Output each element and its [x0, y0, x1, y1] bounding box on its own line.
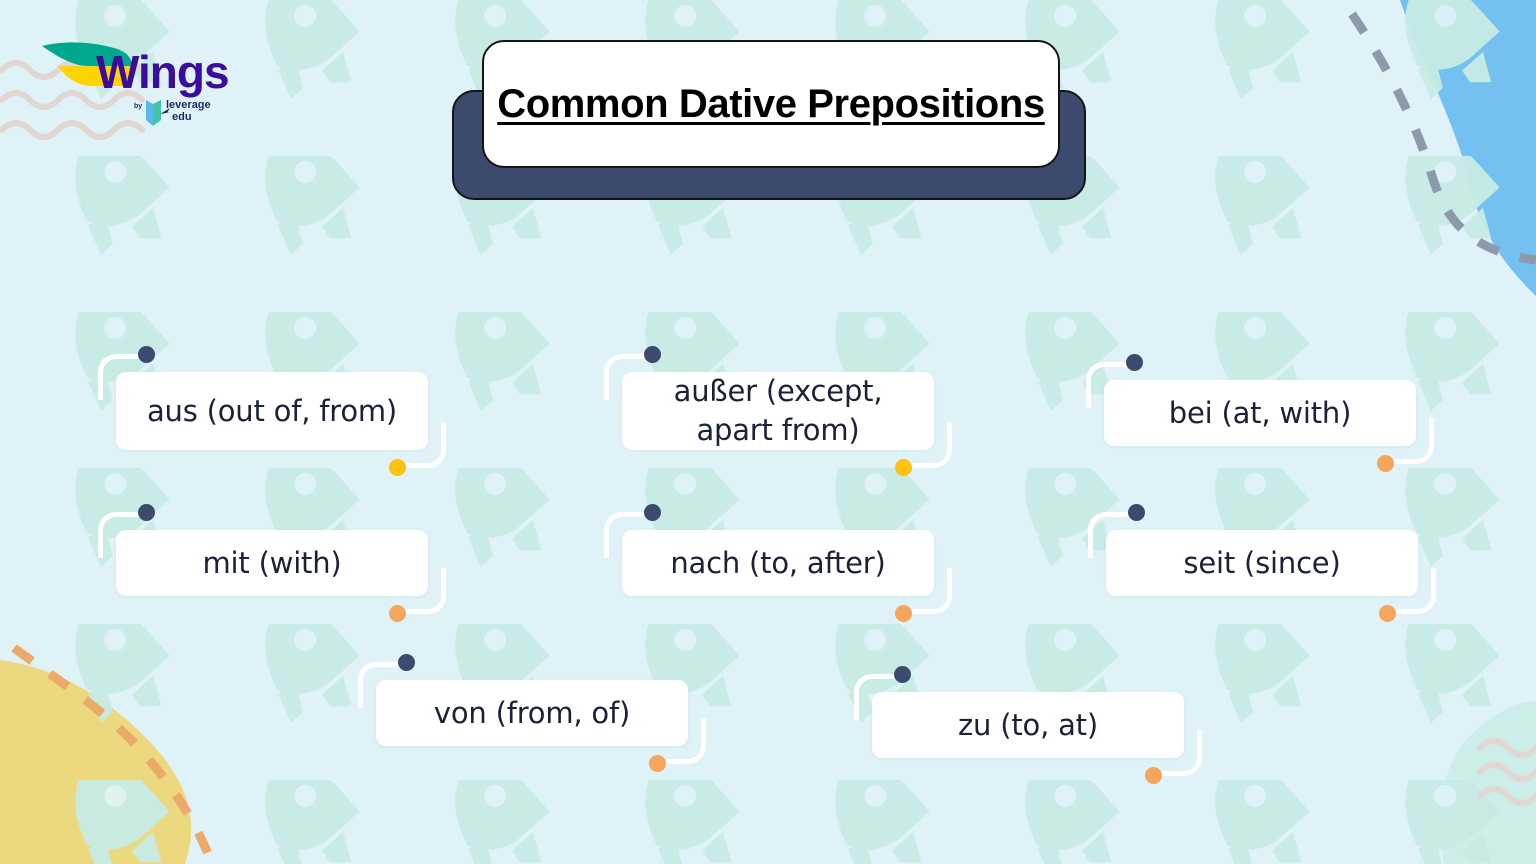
accent-dot-top	[644, 346, 661, 363]
preposition-card-body[interactable]: außer (except, apart from)	[622, 372, 934, 450]
logo-byline-line1: leverage	[166, 99, 211, 111]
blob-mint-bottom-right	[1441, 700, 1536, 864]
accent-dot-top	[894, 666, 911, 683]
preposition-card-aus[interactable]: aus (out of, from)	[116, 372, 428, 450]
preposition-card-body[interactable]: von (from, of)	[376, 680, 688, 746]
preposition-label: bei (at, with)	[1169, 394, 1351, 433]
preposition-card-body[interactable]: mit (with)	[116, 530, 428, 596]
preposition-label: seit (since)	[1183, 544, 1340, 583]
accent-dot-bottom	[1377, 455, 1394, 472]
accent-dot-bottom	[1145, 767, 1162, 784]
preposition-card-body[interactable]: seit (since)	[1106, 530, 1418, 596]
waves-bottom-right	[1480, 741, 1536, 803]
logo-byline-line2: edu	[172, 111, 192, 123]
preposition-label: mit (with)	[202, 544, 341, 583]
accent-dot-bottom	[895, 459, 912, 476]
preposition-card-nach[interactable]: nach (to, after)	[622, 530, 934, 596]
accent-dot-bottom	[389, 605, 406, 622]
blob-bottom-left	[0, 660, 191, 864]
preposition-card-body[interactable]: zu (to, at)	[872, 692, 1184, 758]
preposition-label: von (from, of)	[434, 694, 630, 733]
preposition-label: zu (to, at)	[958, 706, 1098, 745]
accent-dot-top	[644, 504, 661, 521]
accent-dot-bottom	[895, 605, 912, 622]
accent-dot-top	[138, 346, 155, 363]
accent-dot-top	[1126, 354, 1143, 371]
blob-top-right	[1400, 0, 1536, 296]
title-block: Common Dative Prepositions	[452, 40, 1092, 202]
preposition-card-ausser[interactable]: außer (except, apart from)	[622, 372, 934, 450]
preposition-card-body[interactable]: nach (to, after)	[622, 530, 934, 596]
logo-byline-prefix: by	[134, 103, 142, 110]
preposition-card-zu[interactable]: zu (to, at)	[872, 692, 1184, 758]
dashed-curve-top-right	[1352, 14, 1536, 260]
preposition-label: aus (out of, from)	[147, 392, 397, 431]
preposition-card-von[interactable]: von (from, of)	[376, 680, 688, 746]
wings-leverage-edu-logo: Wings by leverage edu	[36, 36, 236, 128]
accent-dot-bottom	[389, 459, 406, 476]
preposition-card-mit[interactable]: mit (with)	[116, 530, 428, 596]
accent-dot-bottom	[649, 755, 666, 772]
preposition-label: außer (except, apart from)	[636, 372, 920, 449]
title-card: Common Dative Prepositions	[482, 40, 1060, 168]
logo-book-icon	[146, 100, 161, 126]
preposition-card-body[interactable]: bei (at, with)	[1104, 380, 1416, 446]
slide-canvas: Wings by leverage edu Common Dative Prep…	[0, 0, 1536, 864]
logo-wordmark: Wings	[96, 46, 229, 98]
page-title: Common Dative Prepositions	[497, 82, 1044, 127]
accent-dot-top	[398, 654, 415, 671]
preposition-label: nach (to, after)	[670, 544, 885, 583]
preposition-card-body[interactable]: aus (out of, from)	[116, 372, 428, 450]
accent-dot-bottom	[1379, 605, 1396, 622]
dashed-curve-bottom-left	[14, 648, 212, 864]
accent-dot-top	[138, 504, 155, 521]
accent-dot-top	[1128, 504, 1145, 521]
preposition-card-bei[interactable]: bei (at, with)	[1104, 380, 1416, 446]
preposition-card-seit[interactable]: seit (since)	[1106, 530, 1418, 596]
